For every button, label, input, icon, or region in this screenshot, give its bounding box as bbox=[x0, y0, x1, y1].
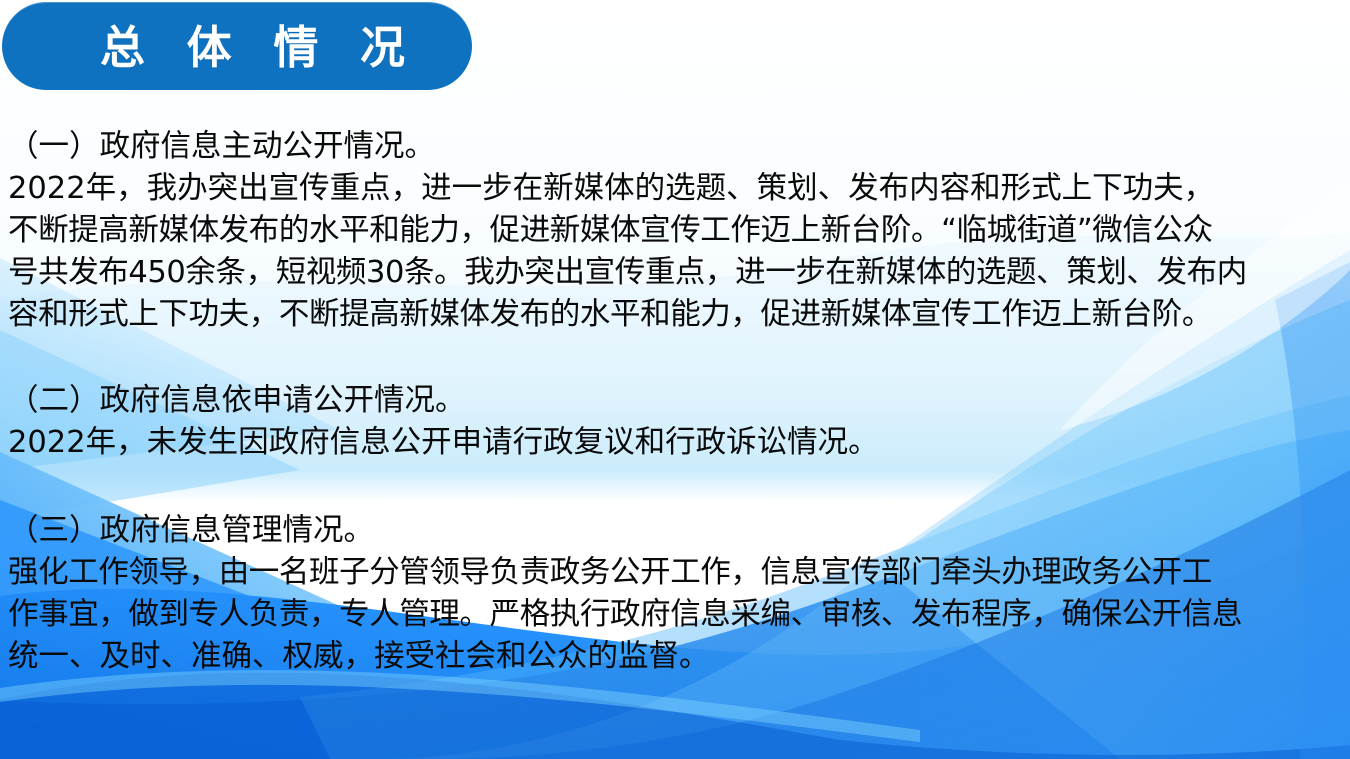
section-three: （三）政府信息管理情况。 强化工作领导，由一名班子分管领导负责政务公开工作，信息… bbox=[8, 510, 1342, 678]
spacer-one bbox=[8, 336, 1342, 380]
page-title: 总 体 情 况 bbox=[100, 17, 400, 79]
slide-canvas: 总 体 情 况 （一）政府信息主动公开情况。 2022年，我办突出宣传重点，进一… bbox=[0, 0, 1350, 759]
spacer-two bbox=[8, 464, 1342, 510]
section-one-line-1: 2022年，我办突出宣传重点，进一步在新媒体的选题、策划、发布内容和形式上下功夫… bbox=[8, 168, 1342, 210]
slide-body: （一）政府信息主动公开情况。 2022年，我办突出宣传重点，进一步在新媒体的选题… bbox=[8, 126, 1342, 678]
section-one: （一）政府信息主动公开情况。 2022年，我办突出宣传重点，进一步在新媒体的选题… bbox=[8, 126, 1342, 336]
section-three-heading: （三）政府信息管理情况。 bbox=[8, 510, 1342, 552]
section-two-line-1: 2022年，未发生因政府信息公开申请行政复议和行政诉讼情况。 bbox=[8, 422, 1342, 464]
section-one-heading: （一）政府信息主动公开情况。 bbox=[8, 126, 1342, 168]
section-one-line-2: 不断提高新媒体发布的水平和能力，促进新媒体宣传工作迈上新台阶。“临城街道”微信公… bbox=[8, 210, 1342, 252]
section-three-line-3: 统一、及时、准确、权威，接受社会和公众的监督。 bbox=[8, 636, 1342, 678]
section-three-line-1: 强化工作领导，由一名班子分管领导负责政务公开工作，信息宣传部门牵头办理政务公开工 bbox=[8, 552, 1342, 594]
section-two-heading: （二）政府信息依申请公开情况。 bbox=[8, 380, 1342, 422]
section-one-line-4: 容和形式上下功夫，不断提高新媒体发布的水平和能力，促进新媒体宣传工作迈上新台阶。 bbox=[8, 294, 1342, 336]
section-one-line-3: 号共发布450余条，短视频30条。我办突出宣传重点，进一步在新媒体的选题、策划、… bbox=[8, 252, 1342, 294]
section-three-line-2: 作事宜，做到专人负责，专人管理。严格执行政府信息采编、审核、发布程序，确保公开信… bbox=[8, 594, 1342, 636]
section-two: （二）政府信息依申请公开情况。 2022年，未发生因政府信息公开申请行政复议和行… bbox=[8, 380, 1342, 464]
